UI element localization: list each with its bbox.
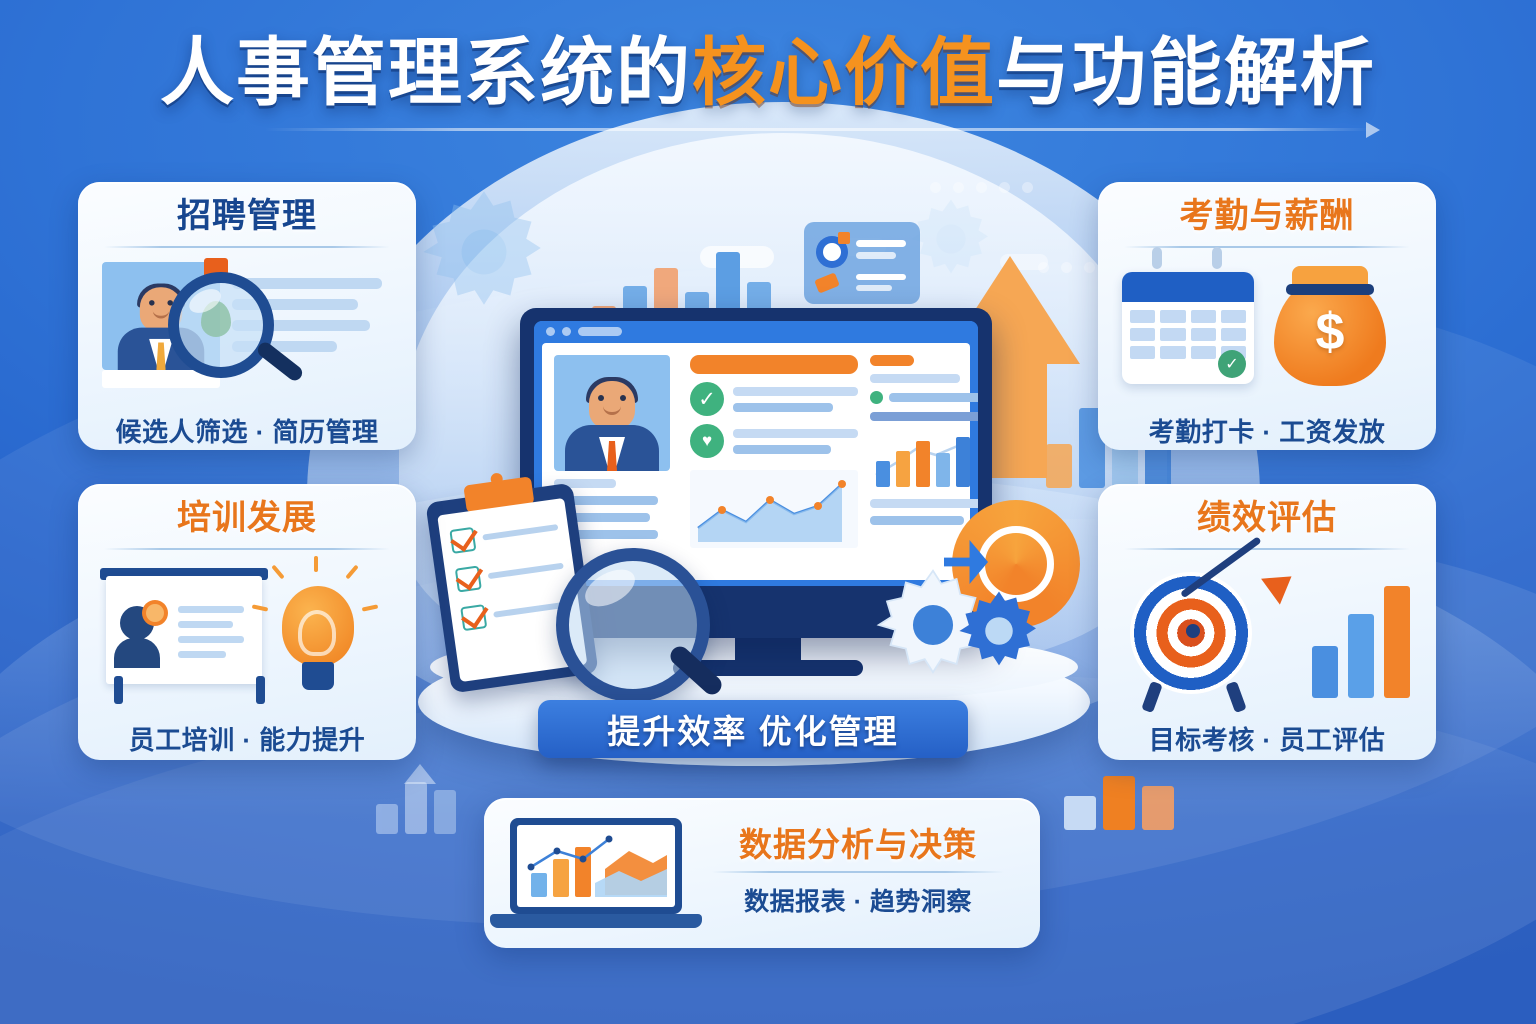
card-title: 培训发展 — [78, 484, 416, 537]
title-highlight: 核心价值 — [692, 31, 996, 114]
dot-row-decoration — [930, 182, 1033, 193]
card-art-calendar-moneybag: ✓ $ — [1116, 256, 1418, 406]
page-title: 人事管理系统的核心价值与功能解析 — [0, 36, 1536, 110]
bar-chart — [870, 429, 978, 491]
arrow-up-icon — [404, 764, 436, 784]
center-banner: 提升效率 优化管理 — [538, 700, 968, 758]
checkbox-checked-icon — [455, 565, 482, 592]
card-subtitle: 候选人筛选 · 简历管理 — [78, 406, 416, 449]
money-bag-icon: $ — [1274, 278, 1386, 386]
title-part-1: 人事管理系统的 — [160, 31, 692, 114]
card-divider — [1124, 548, 1410, 550]
gear-icon — [956, 588, 1042, 674]
laptop-base — [490, 914, 702, 928]
avatar — [554, 355, 670, 471]
infographic-root: 人事管理系统的核心价值与功能解析 — [0, 0, 1536, 1024]
heart-icon: ♥ — [690, 424, 724, 458]
card-title: 招聘管理 — [78, 182, 416, 235]
card-attendance-payroll[interactable]: 考勤与薪酬 ✓ $ 考勤打卡 · 工资发放 — [1098, 182, 1436, 450]
dollar-glyph: $ — [1316, 302, 1345, 362]
hr-dashboard-screen: ✓ ♥ — [542, 343, 970, 580]
background-growth-icon — [376, 776, 456, 834]
lightbulb-icon — [282, 586, 354, 666]
whiteboard — [106, 576, 262, 684]
calendar-icon: ✓ — [1122, 272, 1254, 384]
mini-chart — [517, 825, 675, 907]
checkbox-checked-icon — [449, 527, 476, 554]
check-icon: ✓ — [1218, 350, 1246, 378]
laptop-screen — [517, 825, 675, 907]
background-dashboard-card — [804, 222, 920, 304]
monitor-screen-frame: ✓ ♥ — [534, 321, 978, 586]
card-training-development[interactable]: 培训发展 — [78, 484, 416, 760]
card-recruitment[interactable]: 招聘管理 — [78, 182, 416, 450]
line-chart — [690, 470, 858, 548]
card-divider — [104, 246, 390, 248]
card-title: 考勤与薪酬 — [1098, 182, 1436, 235]
card-art-target-barchart — [1116, 558, 1418, 714]
check-icon: ✓ — [690, 382, 724, 416]
card-divider — [104, 548, 390, 550]
laptop-icon — [510, 818, 682, 914]
background-bar-chart — [1064, 776, 1174, 830]
card-title: 绩效评估 — [1098, 484, 1436, 537]
monitor-titlebar — [534, 321, 978, 341]
lightbulb-base — [302, 662, 334, 690]
card-title: 数据分析与决策 — [698, 828, 1018, 863]
title-underline — [265, 128, 1370, 131]
card-art-laptop-chart — [498, 814, 698, 932]
card-subtitle: 考勤打卡 · 工资发放 — [1098, 406, 1436, 449]
card-subtitle: 数据报表 · 趋势洞察 — [698, 873, 1018, 918]
card-divider — [1124, 246, 1410, 248]
card-performance-evaluation[interactable]: 绩效评估 目标考核 · 员工评估 — [1098, 484, 1436, 760]
bar-chart — [1312, 586, 1410, 698]
checkbox-checked-icon — [460, 604, 487, 631]
card-subtitle: 目标考核 · 员工评估 — [1098, 714, 1436, 757]
card-data-analysis[interactable]: 数据分析与决策 数据报表 · 趋势洞察 — [484, 798, 1040, 948]
magnifier-icon — [556, 548, 710, 702]
magnifier-icon — [168, 272, 274, 378]
card-subtitle: 员工培训 · 能力提升 — [78, 714, 416, 757]
gear-icon — [418, 186, 550, 318]
title-part-2: 与功能解析 — [996, 31, 1376, 114]
card-art-resume-magnifier — [96, 256, 398, 406]
card-art-whiteboard-bulb — [96, 558, 398, 714]
